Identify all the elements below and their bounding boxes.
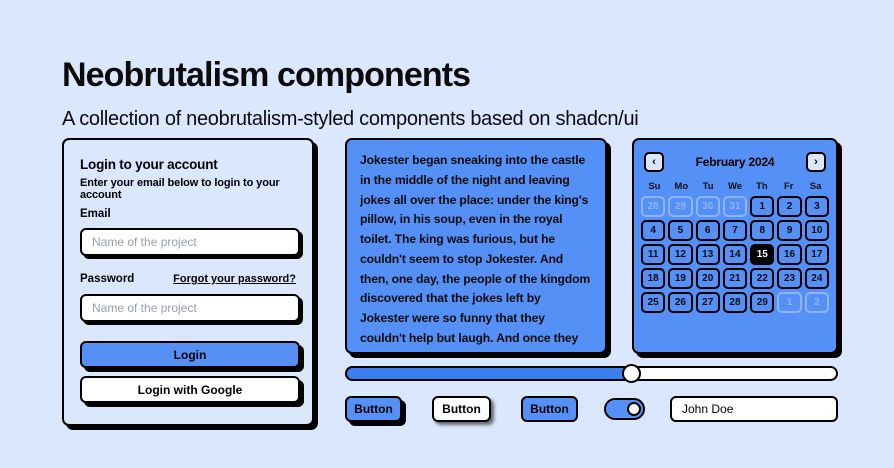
calendar-weekday: Su (641, 181, 668, 192)
calendar-card: ‹ February 2024 › SuMoTuWeThFrSa 2829303… (632, 138, 838, 354)
name-field[interactable] (670, 396, 838, 422)
story-text-card[interactable]: Jokester began sneaking into the castle … (345, 138, 607, 354)
login-heading: Login to your account (80, 157, 218, 172)
login-with-google-button[interactable]: Login with Google (80, 376, 300, 403)
button-neutral[interactable]: Button (432, 396, 491, 422)
toggle-switch[interactable] (604, 398, 645, 420)
slider-fill (345, 366, 631, 381)
calendar-day-selected[interactable]: 15 (750, 244, 774, 265)
calendar-day[interactable]: 9 (777, 220, 801, 241)
login-card-body: Login to your account Enter your email b… (64, 140, 312, 424)
email-label: Email (80, 208, 111, 220)
calendar-day[interactable]: 5 (668, 220, 692, 241)
calendar-weekday: Th (748, 181, 775, 192)
calendar-weekday: Sa (802, 181, 829, 192)
calendar-day[interactable]: 29 (668, 196, 692, 217)
calendar-day-grid: 2829303112345678910111213141516171819202… (641, 196, 829, 313)
calendar-month-label: February 2024 (696, 155, 775, 169)
calendar-weekday: We (722, 181, 749, 192)
email-field[interactable] (80, 228, 300, 256)
slider[interactable] (345, 366, 838, 381)
calendar-day[interactable]: 28 (641, 196, 665, 217)
calendar-day[interactable]: 29 (750, 292, 774, 313)
calendar-day[interactable]: 11 (641, 244, 665, 265)
calendar-day[interactable]: 18 (641, 268, 665, 289)
chevron-right-icon[interactable]: › (806, 152, 826, 172)
login-description: Enter your email below to login to your … (80, 177, 312, 201)
calendar-day[interactable]: 31 (723, 196, 747, 217)
app-root: Neobrutalism components A collection of … (0, 0, 894, 468)
login-button[interactable]: Login (80, 341, 300, 368)
calendar-day[interactable]: 25 (641, 292, 665, 313)
page-title: Neobrutalism components (62, 57, 470, 94)
calendar-day[interactable]: 28 (723, 292, 747, 313)
password-label: Password (80, 273, 134, 285)
calendar-day[interactable]: 12 (668, 244, 692, 265)
calendar-day[interactable]: 22 (750, 268, 774, 289)
chevron-left-icon[interactable]: ‹ (644, 152, 664, 172)
button-primary-shadow[interactable]: Button (345, 396, 402, 422)
calendar-day[interactable]: 26 (668, 292, 692, 313)
calendar-weekday: Tu (695, 181, 722, 192)
login-card: Login to your account Enter your email b… (62, 138, 314, 426)
slider-thumb[interactable] (622, 364, 641, 383)
calendar-weekday: Fr (775, 181, 802, 192)
calendar-day[interactable]: 24 (805, 268, 829, 289)
calendar-day[interactable]: 2 (777, 196, 801, 217)
calendar-day[interactable]: 13 (696, 244, 720, 265)
calendar-day[interactable]: 21 (723, 268, 747, 289)
page-subtitle: A collection of neobrutalism-styled comp… (62, 107, 638, 131)
story-text: Jokester began sneaking into the castle … (347, 140, 605, 354)
calendar-day[interactable]: 4 (641, 220, 665, 241)
calendar-day[interactable]: 20 (696, 268, 720, 289)
password-field[interactable] (80, 294, 300, 322)
calendar-day[interactable]: 2 (805, 292, 829, 313)
calendar-day[interactable]: 19 (668, 268, 692, 289)
calendar-day[interactable]: 1 (750, 196, 774, 217)
calendar-day[interactable]: 10 (805, 220, 829, 241)
calendar-day[interactable]: 23 (777, 268, 801, 289)
forgot-password-link[interactable]: Forgot your password? (173, 273, 296, 285)
calendar-header: ‹ February 2024 › (642, 147, 828, 177)
calendar-day[interactable]: 6 (696, 220, 720, 241)
calendar-day[interactable]: 16 (777, 244, 801, 265)
calendar-weekday: Mo (668, 181, 695, 192)
calendar-day[interactable]: 7 (723, 220, 747, 241)
calendar-weekday-row: SuMoTuWeThFrSa (641, 181, 829, 192)
calendar-day[interactable]: 8 (750, 220, 774, 241)
calendar-day[interactable]: 27 (696, 292, 720, 313)
calendar-day[interactable]: 17 (805, 244, 829, 265)
button-primary-flat[interactable]: Button (521, 396, 578, 422)
calendar-day[interactable]: 14 (723, 244, 747, 265)
calendar-day[interactable]: 30 (696, 196, 720, 217)
calendar-day[interactable]: 3 (805, 196, 829, 217)
calendar-day[interactable]: 1 (777, 292, 801, 313)
toggle-knob (627, 402, 641, 416)
